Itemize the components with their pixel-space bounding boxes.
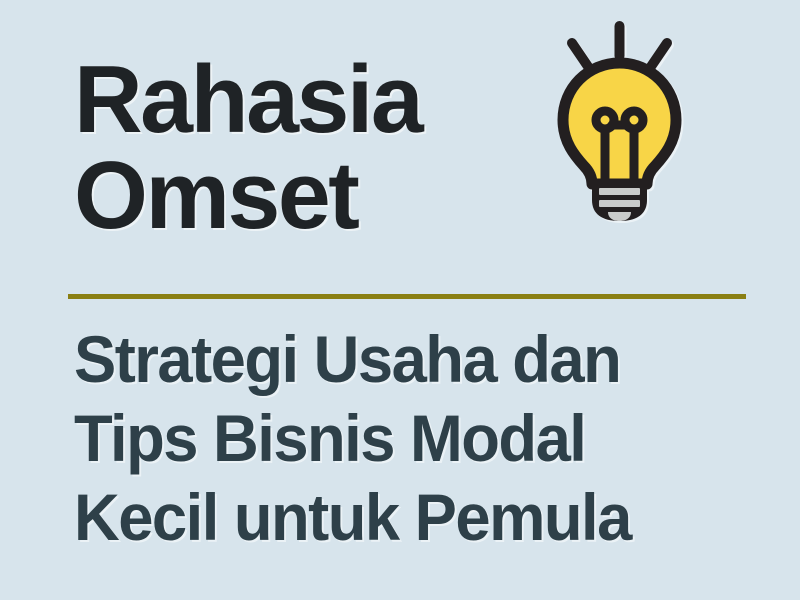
subtitle-line-2: Tips Bisnis Modal [74, 399, 746, 478]
page-title: Rahasia Omset [74, 52, 554, 244]
lightbulb-base-band-2 [599, 200, 640, 207]
divider-rule [68, 294, 746, 299]
poster-canvas: Rahasia Omset [0, 0, 800, 600]
title-line-1: Rahasia [74, 52, 549, 148]
lightbulb-icon [532, 8, 707, 223]
subtitle-line-1: Strategi Usaha dan [74, 320, 746, 399]
page-subtitle: Strategi Usaha dan Tips Bisnis Modal Kec… [74, 320, 774, 557]
subtitle-line-3: Kecil untuk Pemula [74, 478, 746, 557]
lightbulb-base-band-1 [599, 188, 640, 195]
title-line-2: Omset [74, 148, 549, 244]
